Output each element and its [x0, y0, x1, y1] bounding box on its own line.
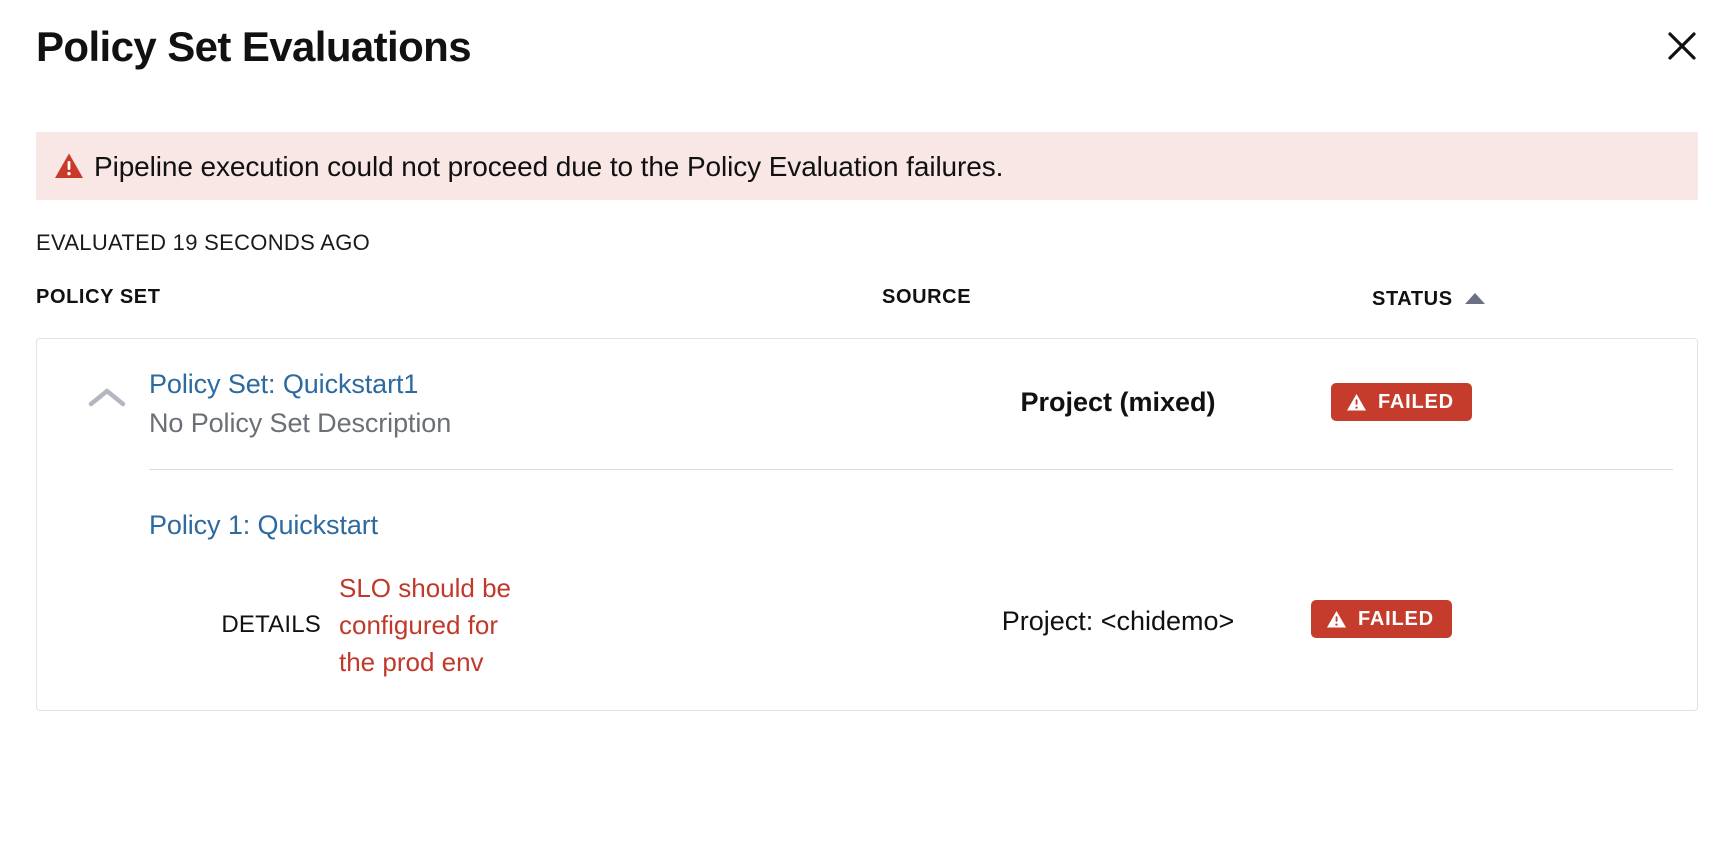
error-alert-banner: Pipeline execution could not proceed due… — [36, 132, 1698, 200]
status-badge-label: FAILED — [1378, 392, 1454, 412]
column-header-status[interactable]: STATUS — [1372, 288, 1485, 311]
sort-ascending-arrow-icon — [1465, 293, 1485, 304]
evaluated-timestamp: EVALUATED 19 SECONDS AGO — [36, 230, 1698, 256]
close-icon — [1665, 29, 1699, 63]
policy-set-name-link[interactable]: Policy Set: Quickstart1 — [149, 367, 451, 402]
policy-name-link[interactable]: Policy 1: Quickstart — [149, 508, 378, 543]
status-badge-failed: FAILED — [1331, 383, 1472, 421]
page-title: Policy Set Evaluations — [36, 22, 1698, 72]
policy-set-status: FAILED — [1331, 383, 1472, 421]
column-header-policy-set[interactable]: POLICY SET — [36, 286, 161, 309]
policy-source: Project: <chidemo> — [883, 606, 1353, 637]
warning-triangle-icon — [1346, 393, 1367, 412]
policy-set-info: Policy Set: Quickstart1 No Policy Set De… — [149, 367, 451, 441]
close-button[interactable] — [1660, 24, 1704, 68]
chevron-up-icon — [87, 386, 127, 410]
policy-set-row: Policy Set: Quickstart1 No Policy Set De… — [37, 339, 1697, 469]
policy-details: DETAILS SLO should be configured for the… — [149, 570, 569, 681]
column-header-source[interactable]: SOURCE — [882, 286, 971, 309]
warning-triangle-icon — [54, 151, 84, 181]
status-badge-failed: FAILED — [1311, 600, 1452, 638]
expand-collapse-toggle[interactable] — [85, 381, 129, 415]
warning-triangle-icon — [1326, 610, 1347, 629]
policy-details-value: SLO should be configured for the prod en… — [339, 570, 519, 681]
policy-set-evaluations-modal: Policy Set Evaluations Pipeline executio… — [0, 0, 1734, 852]
policy-set-source: Project (mixed) — [883, 387, 1353, 418]
policy-row: Policy 1: Quickstart DETAILS SLO should … — [37, 470, 1697, 680]
status-badge-label: FAILED — [1358, 609, 1434, 629]
alert-message: Pipeline execution could not proceed due… — [94, 149, 1003, 184]
policy-name-wrap: Policy 1: Quickstart — [149, 508, 378, 543]
policy-set-description: No Policy Set Description — [149, 406, 451, 441]
modal-header: Policy Set Evaluations — [0, 0, 1734, 110]
policy-set-results-card: Policy Set: Quickstart1 No Policy Set De… — [36, 338, 1698, 711]
table-header-row: POLICY SET SOURCE STATUS — [36, 286, 1698, 328]
policy-details-label: DETAILS — [149, 611, 339, 639]
policy-status: FAILED — [1311, 600, 1452, 638]
column-header-status-label: STATUS — [1372, 288, 1453, 311]
